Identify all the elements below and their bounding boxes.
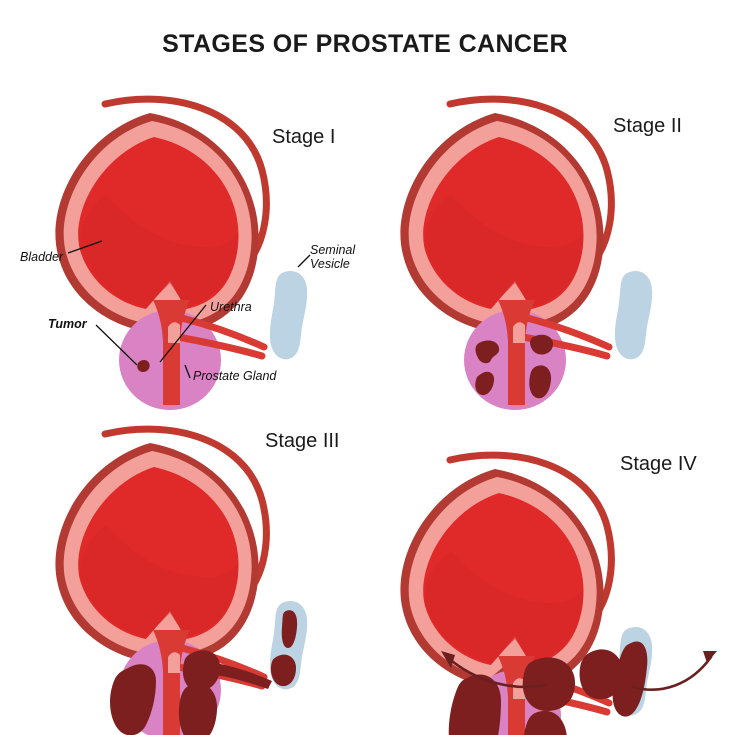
stage-label-1: Stage I: [272, 126, 335, 149]
anatomy-illustration-1: [10, 75, 375, 405]
annotation-tumor: Tumor: [48, 317, 87, 331]
annotation-urethra: Urethra: [210, 300, 252, 314]
annotation-seminal-vesicle-line1: Seminal: [310, 243, 355, 257]
tumor-metastatic: [580, 649, 623, 699]
stage-label-3: Stage III: [265, 430, 340, 453]
stage-label-4: Stage IV: [620, 453, 697, 476]
tumor-metastatic: [523, 657, 575, 711]
panel-stage-2: Stage II: [355, 75, 720, 405]
stage-label-2: Stage II: [613, 115, 682, 138]
tumor-metastatic: [449, 674, 501, 735]
annotation-bladder: Bladder: [20, 250, 63, 264]
annotation-seminal-vesicle-line2: Vesicle: [310, 257, 355, 271]
annotation-seminal-vesicle: Seminal Vesicle: [310, 243, 355, 272]
urethra-lumen: [168, 652, 180, 673]
page-title: STAGES OF PROSTATE CANCER: [0, 30, 730, 59]
panel-stage-3: Stage III: [10, 405, 375, 735]
urethra-lumen: [513, 322, 525, 343]
anatomy-illustration-3: [10, 405, 375, 735]
tumor-extracapsular: [179, 683, 217, 735]
seminal-vesicle: [270, 271, 307, 359]
panel-stage-1: Stage I: [10, 75, 375, 405]
diagram-canvas: STAGES OF PROSTATE CANCER Stage I: [0, 0, 730, 730]
annotation-prostate-gland: Prostate Gland: [193, 369, 276, 383]
seminal-vesicle: [615, 271, 652, 359]
leader-line-seminal-vesicle: [298, 255, 310, 267]
panel-stage-4: Stage IV: [355, 405, 720, 735]
